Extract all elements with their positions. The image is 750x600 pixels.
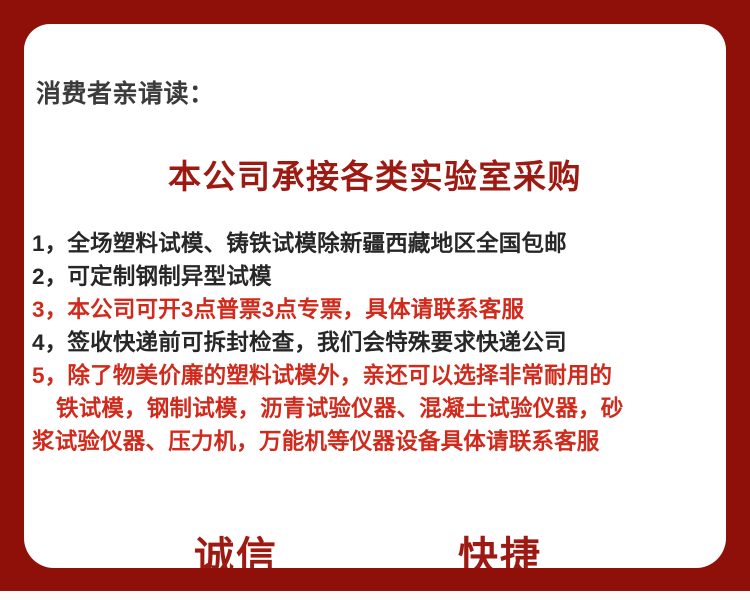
promo-white-card: 消费者亲请读： 本公司承接各类实验室采购 1，全场塑料试模、铸铁试模除新疆西藏地… <box>24 24 726 568</box>
terms-list: 1，全场塑料试模、铸铁试模除新疆西藏地区全国包邮2，可定制钢制异型试模3，本公司… <box>32 227 726 458</box>
term-line: 铁试模，钢制试模，沥青试验仪器、混凝土试验仪器，砂 <box>32 392 726 425</box>
term-line: 4，签收快递前可拆封检查，我们会特殊要求快递公司 <box>32 326 726 359</box>
slogan-row: 诚信 快捷 <box>24 524 726 568</box>
term-line: 3，本公司可开3点普票3点专票，具体请联系客服 <box>32 293 726 326</box>
term-line: 浆试验仪器、压力机，万能机等仪器设备具体请联系客服 <box>32 425 726 458</box>
slogan-fast: 快捷 <box>458 524 542 568</box>
consumer-notice-label: 消费者亲请读： <box>36 74 215 110</box>
promo-red-frame: 消费者亲请读： 本公司承接各类实验室采购 1，全场塑料试模、铸铁试模除新疆西藏地… <box>0 0 750 591</box>
term-line: 1，全场塑料试模、铸铁试模除新疆西藏地区全国包邮 <box>32 227 726 260</box>
term-line: 5，除了物美价廉的塑料试模外，亲还可以选择非常耐用的 <box>32 359 726 392</box>
term-line: 2，可定制钢制异型试模 <box>32 260 726 293</box>
promo-headline: 本公司承接各类实验室采购 <box>24 150 726 198</box>
bottom-strip <box>0 591 750 600</box>
slogan-trust: 诚信 <box>194 524 278 568</box>
